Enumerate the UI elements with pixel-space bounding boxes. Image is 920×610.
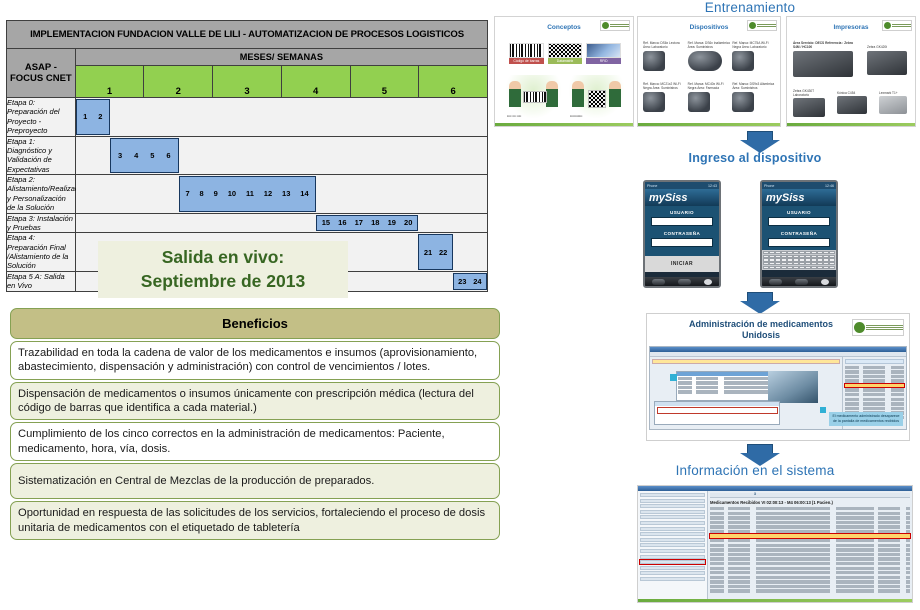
datamatrix-sample: Datamatrix <box>548 43 583 64</box>
device-grid: Ref. Marca: DS6x Lectora Área: Laborator… <box>643 41 775 120</box>
admin-main-area <box>650 357 842 429</box>
system-table-title: Medicamentos Recibidos VI 02:00:13 - M4 … <box>710 500 910 505</box>
menu-button-icon[interactable] <box>678 279 691 285</box>
logo-mark <box>602 22 609 29</box>
system-table[interactable] <box>710 507 910 593</box>
device-image-1 <box>688 51 722 71</box>
gantt-row-label: Etapa 4: Preparación Final /Alistamiento… <box>7 233 76 272</box>
printer-label-3: Kónica C454 <box>837 91 873 95</box>
gantt-month-2: 2 <box>144 66 213 98</box>
logo-text <box>610 24 629 28</box>
app-brand-mysiss: mySiss <box>762 189 836 206</box>
gantt-week-number: 15 <box>321 218 331 227</box>
gantt-row-label: Etapa 3: Instalación y Pruebas <box>7 213 76 233</box>
admin-callout: El medicamento administrado desaparece d… <box>829 412 903 425</box>
phone-status-bar: Phone 12:43 <box>645 182 719 189</box>
benefits-header: Beneficios <box>10 308 500 339</box>
device-label-3: Ref. Marca: MC21x2 Wi-Fi Negra Área: Sum… <box>643 82 686 90</box>
keyboard-key[interactable] <box>811 266 817 269</box>
app-brand-mysiss: mySiss <box>645 189 719 206</box>
printer-item-4: Lexmark T1+ <box>879 91 913 114</box>
go-live-banner: Salida en vivo: Septiembre de 2013 <box>98 241 348 298</box>
gantt-month-5: 5 <box>350 66 419 98</box>
gantt-row-header: ASAP - FOCUS CNET <box>7 49 76 98</box>
device-label-0: Ref. Marca: DS6x Lectora Área: Laborator… <box>643 41 686 49</box>
toolbar-marker-3: 3 <box>754 492 756 496</box>
gantt-row: Etapa 0: Preparación del Proyecto - Prep… <box>7 98 488 137</box>
benefits-panel: Beneficios Trazabilidad en toda la caden… <box>10 308 500 542</box>
gantt-row-label: Etapa 5 A: Salida en Vivo <box>7 271 76 291</box>
keyboard-key[interactable] <box>781 266 787 269</box>
keyboard-key[interactable] <box>817 266 823 269</box>
device-item-1: Ref. Marca: DS6x Inalámbrico Área: Sumin… <box>688 41 731 80</box>
device-image-2 <box>732 51 754 71</box>
login-form: USUARIO CONTRASEÑA <box>645 206 719 256</box>
gantt-bar: 2122 <box>418 234 452 270</box>
benefit-item: Dispensación de medicamentos o insumos ú… <box>10 382 500 421</box>
gantt-track: 3456 <box>75 136 487 175</box>
device-label-5: Ref. Marca: DS9x3 Alámbrica Área: Sumini… <box>732 82 775 90</box>
gantt-week-number: 5 <box>149 151 155 160</box>
slide-accent-bar <box>638 123 780 126</box>
gantt-week-number: 16 <box>337 218 347 227</box>
printer-label-1: Zebra GK420t <box>867 45 913 49</box>
tag-datamatrix: Datamatrix <box>548 58 583 64</box>
fundacion-logo-icon <box>852 319 904 336</box>
phone-nav-bar <box>645 277 719 286</box>
gantt-week-number: 24 <box>472 277 482 286</box>
onscreen-keyboard[interactable] <box>762 250 836 270</box>
phone-carrier: Phone <box>764 184 774 188</box>
gantt-week-number: 18 <box>370 218 380 227</box>
device-image-4 <box>688 92 710 112</box>
keyboard-key[interactable] <box>769 266 775 269</box>
contrasena-label: CONTRASEÑA <box>768 231 830 236</box>
informacion-sistema-screenshot[interactable]: 3 Medicamentos Recibidos VI 02:00:13 - M… <box>637 485 913 603</box>
arrow-to-administracion <box>740 292 780 314</box>
keyboard-key[interactable] <box>823 266 829 269</box>
logo-text <box>866 325 903 331</box>
usuario-label: USUARIO <box>651 210 713 215</box>
keyboard-key[interactable] <box>775 266 781 269</box>
logo-mark <box>884 22 891 29</box>
tag-codigo-barras: Código de barras <box>509 58 544 64</box>
close-icon[interactable] <box>704 279 712 285</box>
menu-button-icon[interactable] <box>795 279 808 285</box>
phone-keyboard-screen[interactable]: Phone 12:46 mySiss USUARIO CONTRASEÑA <box>760 180 838 288</box>
arrow-to-ingreso <box>740 131 780 153</box>
gantt-week-number: 7 <box>184 189 190 198</box>
phone-clock: 12:46 <box>825 184 834 188</box>
logo-text <box>757 24 776 28</box>
gantt-week-number: 11 <box>245 189 255 198</box>
device-item-2: Ref. Marca: MC75A Wi-Fi Negra Área: Labo… <box>732 41 775 80</box>
gantt-row: Etapa 3: Instalación y Pruebas1516171819… <box>7 213 488 233</box>
device-item-4: Ref. Marca: MC40x Wi-Fi Negra Área: Farm… <box>688 82 731 121</box>
informacion-section-title: Información en el sistema <box>630 463 880 478</box>
printer-item-2: Zebra GK430T Laboratorio <box>793 89 831 117</box>
benefit-item: Sistematización en Central de Mezclas de… <box>10 463 500 499</box>
fundacion-logo-icon <box>882 20 912 31</box>
benefit-item: Trazabilidad en toda la cadena de valor … <box>10 341 500 380</box>
gantt-bar: 12 <box>76 99 110 135</box>
phone-status-bar: Phone 12:46 <box>762 182 836 189</box>
gantt-month-4: 4 <box>281 66 350 98</box>
slide-accent-bar <box>495 123 633 126</box>
gantt-week-number: 23 <box>457 277 467 286</box>
device-label-4: Ref. Marca: MC40x Wi-Fi Negra Área: Farm… <box>688 82 731 90</box>
gantt-week-number: 2 <box>97 112 103 121</box>
step-marker-2 <box>820 407 826 413</box>
benefit-item: Cumplimiento de los cinco correctos en l… <box>10 422 500 461</box>
gantt-week-number: 12 <box>263 189 273 198</box>
sap-toolbar[interactable]: 3 <box>710 493 910 498</box>
gantt-week-number: 19 <box>387 218 397 227</box>
usuario-input[interactable] <box>768 217 830 226</box>
training-slide-conceptos[interactable]: Conceptos Código de barras Datamatrix RF… <box>494 16 634 127</box>
go-live-line1: Salida en vivo: <box>162 246 285 270</box>
keyboard-key[interactable] <box>805 266 811 269</box>
gantt-bar: 2324 <box>453 273 487 290</box>
printer-label-2: Zebra GK430T Laboratorio <box>793 89 831 97</box>
gantt-track: 12 <box>75 98 487 137</box>
gantt-week-number: 6 <box>165 151 171 160</box>
training-slide-dispositivos[interactable]: Dispositivos Ref. Marca: DS6x Lectora Ár… <box>637 16 781 127</box>
administracion-medicamentos-screenshot[interactable]: Administración de medicamentos Unidosis <box>646 313 910 441</box>
gantt-row: Etapa 2: Alistamiento/Realización y Pers… <box>7 175 488 214</box>
barcode-sample: Código de barras <box>509 43 544 64</box>
ingreso-section-title: Ingreso al dispositivo <box>640 151 870 165</box>
tag-rfid: RFID <box>586 58 621 64</box>
gantt-week-number: 14 <box>299 189 309 198</box>
gantt-week-number: 20 <box>403 218 413 227</box>
printer-item-3: Kónica C454 <box>837 91 873 114</box>
gantt-month-3: 3 <box>213 66 282 98</box>
device-item-5: Ref. Marca: DS9x3 Alámbrica Área: Sumini… <box>732 82 775 121</box>
contrasena-input[interactable] <box>768 238 830 247</box>
sap-tree-sidebar[interactable] <box>638 491 708 600</box>
device-image-3 <box>643 92 665 112</box>
rfid-sample: RFID <box>586 43 621 64</box>
printer-label-0: Área Servicio: DECS Referencia : Zebra S… <box>793 41 859 49</box>
start-button-icon[interactable] <box>769 279 782 285</box>
phone-login-screen[interactable]: Phone 12:43 mySiss USUARIO CONTRASEÑA IN… <box>643 180 721 288</box>
gantt-bar: 7891011121314 <box>179 176 316 212</box>
printer-label-4: Lexmark T1+ <box>879 91 913 95</box>
slide-accent-bar <box>787 123 915 126</box>
arrow-shaft <box>747 131 773 140</box>
arrow-shaft <box>747 444 773 453</box>
gantt-row-label: Etapa 2: Alistamiento/Realización y Pers… <box>7 175 76 214</box>
phone-nav-bar <box>762 277 836 286</box>
keyboard-key[interactable] <box>787 266 793 269</box>
logo-text <box>892 24 911 28</box>
admin-title-line2: Unidosis <box>653 330 869 341</box>
gantt-week-number: 10 <box>227 189 237 198</box>
logo-mark <box>854 322 865 333</box>
device-label-1: Ref. Marca: DS6x Inalámbrico Área: Sumin… <box>688 41 731 49</box>
keyboard-key[interactable] <box>799 266 805 269</box>
admin-app-window: El medicamento administrado desaparece d… <box>649 346 907 430</box>
phone-clock: 12:43 <box>708 184 717 188</box>
step-marker-1 <box>670 374 677 381</box>
gantt-month-1: 1 <box>75 66 144 98</box>
gantt-week-number: 22 <box>438 248 448 257</box>
go-live-line2: Septiembre de 2013 <box>141 270 305 294</box>
gantt-track: 7891011121314 <box>75 175 487 214</box>
device-item-3: Ref. Marca: MC21x2 Wi-Fi Negra Área: Sum… <box>643 82 686 121</box>
admin-title-line1: Administración de medicamentos <box>653 319 869 330</box>
keyboard-key[interactable] <box>829 266 835 269</box>
illustration-people-qr: ▪▪▪▪▪▪▪▪▪▪▪ <box>568 75 625 119</box>
gantt-month-row: 123456 <box>7 66 488 98</box>
phone-carrier: Phone <box>647 184 657 188</box>
contrasena-label: CONTRASEÑA <box>651 231 713 236</box>
gantt-week-number: 9 <box>213 189 219 198</box>
device-image-5 <box>732 92 754 112</box>
gantt-week-number: 13 <box>281 189 291 198</box>
admin-subform <box>654 401 780 425</box>
usuario-label: USUARIO <box>768 210 830 215</box>
gantt-week-number: 1 <box>82 112 88 121</box>
start-button-icon[interactable] <box>652 279 665 285</box>
fundacion-logo-icon <box>600 20 630 31</box>
gantt-week-number: 3 <box>117 151 123 160</box>
gantt-track: 151617181920 <box>75 213 487 233</box>
benefits-list: Trazabilidad en toda la cadena de valor … <box>10 341 500 540</box>
illustration-people-barcode: ▪▪▪▪ ▪▪▪ ▪▪▪▪ <box>505 75 562 119</box>
gantt-row: Etapa 1: Diagnóstico y Validación de Exp… <box>7 136 488 175</box>
logo-mark <box>749 22 756 29</box>
gantt-week-number: 8 <box>199 189 205 198</box>
keyboard-key[interactable] <box>763 266 769 269</box>
login-form: USUARIO CONTRASEÑA <box>762 206 836 250</box>
device-image-0 <box>643 51 665 71</box>
usuario-input[interactable] <box>651 217 713 226</box>
benefit-item: Oportunidad en respuesta de las solicitu… <box>10 501 500 540</box>
close-icon[interactable] <box>821 279 829 285</box>
gantt-month-6: 6 <box>419 66 488 98</box>
iniciar-button[interactable]: INICIAR <box>645 256 719 272</box>
printer-item-0: Área Servicio: DECS Referencia : Zebra S… <box>793 41 859 77</box>
gantt-title: IMPLEMENTACION FUNDACION VALLE DE LILI -… <box>7 21 488 49</box>
gantt-period-header: MESES/ SEMANAS <box>75 49 487 66</box>
printer-item-1: Zebra GK420t <box>867 45 913 75</box>
gantt-row-label: Etapa 1: Diagnóstico y Validación de Exp… <box>7 136 76 175</box>
patient-photo <box>768 371 818 403</box>
training-section-title: Entrenamiento <box>640 0 860 15</box>
fundacion-logo-icon <box>747 20 777 31</box>
gantt-week-number: 17 <box>354 218 364 227</box>
device-label-2: Ref. Marca: MC75A Wi-Fi Negra Área: Labo… <box>732 41 775 49</box>
contrasena-input[interactable] <box>651 238 713 247</box>
sap-content-area: 3 Medicamentos Recibidos VI 02:00:13 - M… <box>708 491 912 600</box>
gantt-week-number: 4 <box>133 151 139 160</box>
gantt-bar: 3456 <box>110 138 179 174</box>
gantt-row-label: Etapa 0: Preparación del Proyecto - Prep… <box>7 98 76 137</box>
slide-canvas: IMPLEMENTACION FUNDACION VALLE DE LILI -… <box>0 0 920 610</box>
training-slide-impresoras[interactable]: Impresoras Área Servicio: DECS Referenci… <box>786 16 916 127</box>
keyboard-key[interactable] <box>793 266 799 269</box>
device-item-0: Ref. Marca: DS6x Lectora Área: Laborator… <box>643 41 686 80</box>
slide-accent-bar <box>638 599 912 602</box>
gantt-week-number: 21 <box>423 248 433 257</box>
gantt-bar: 151617181920 <box>316 215 419 232</box>
arrow-shaft <box>747 292 773 301</box>
